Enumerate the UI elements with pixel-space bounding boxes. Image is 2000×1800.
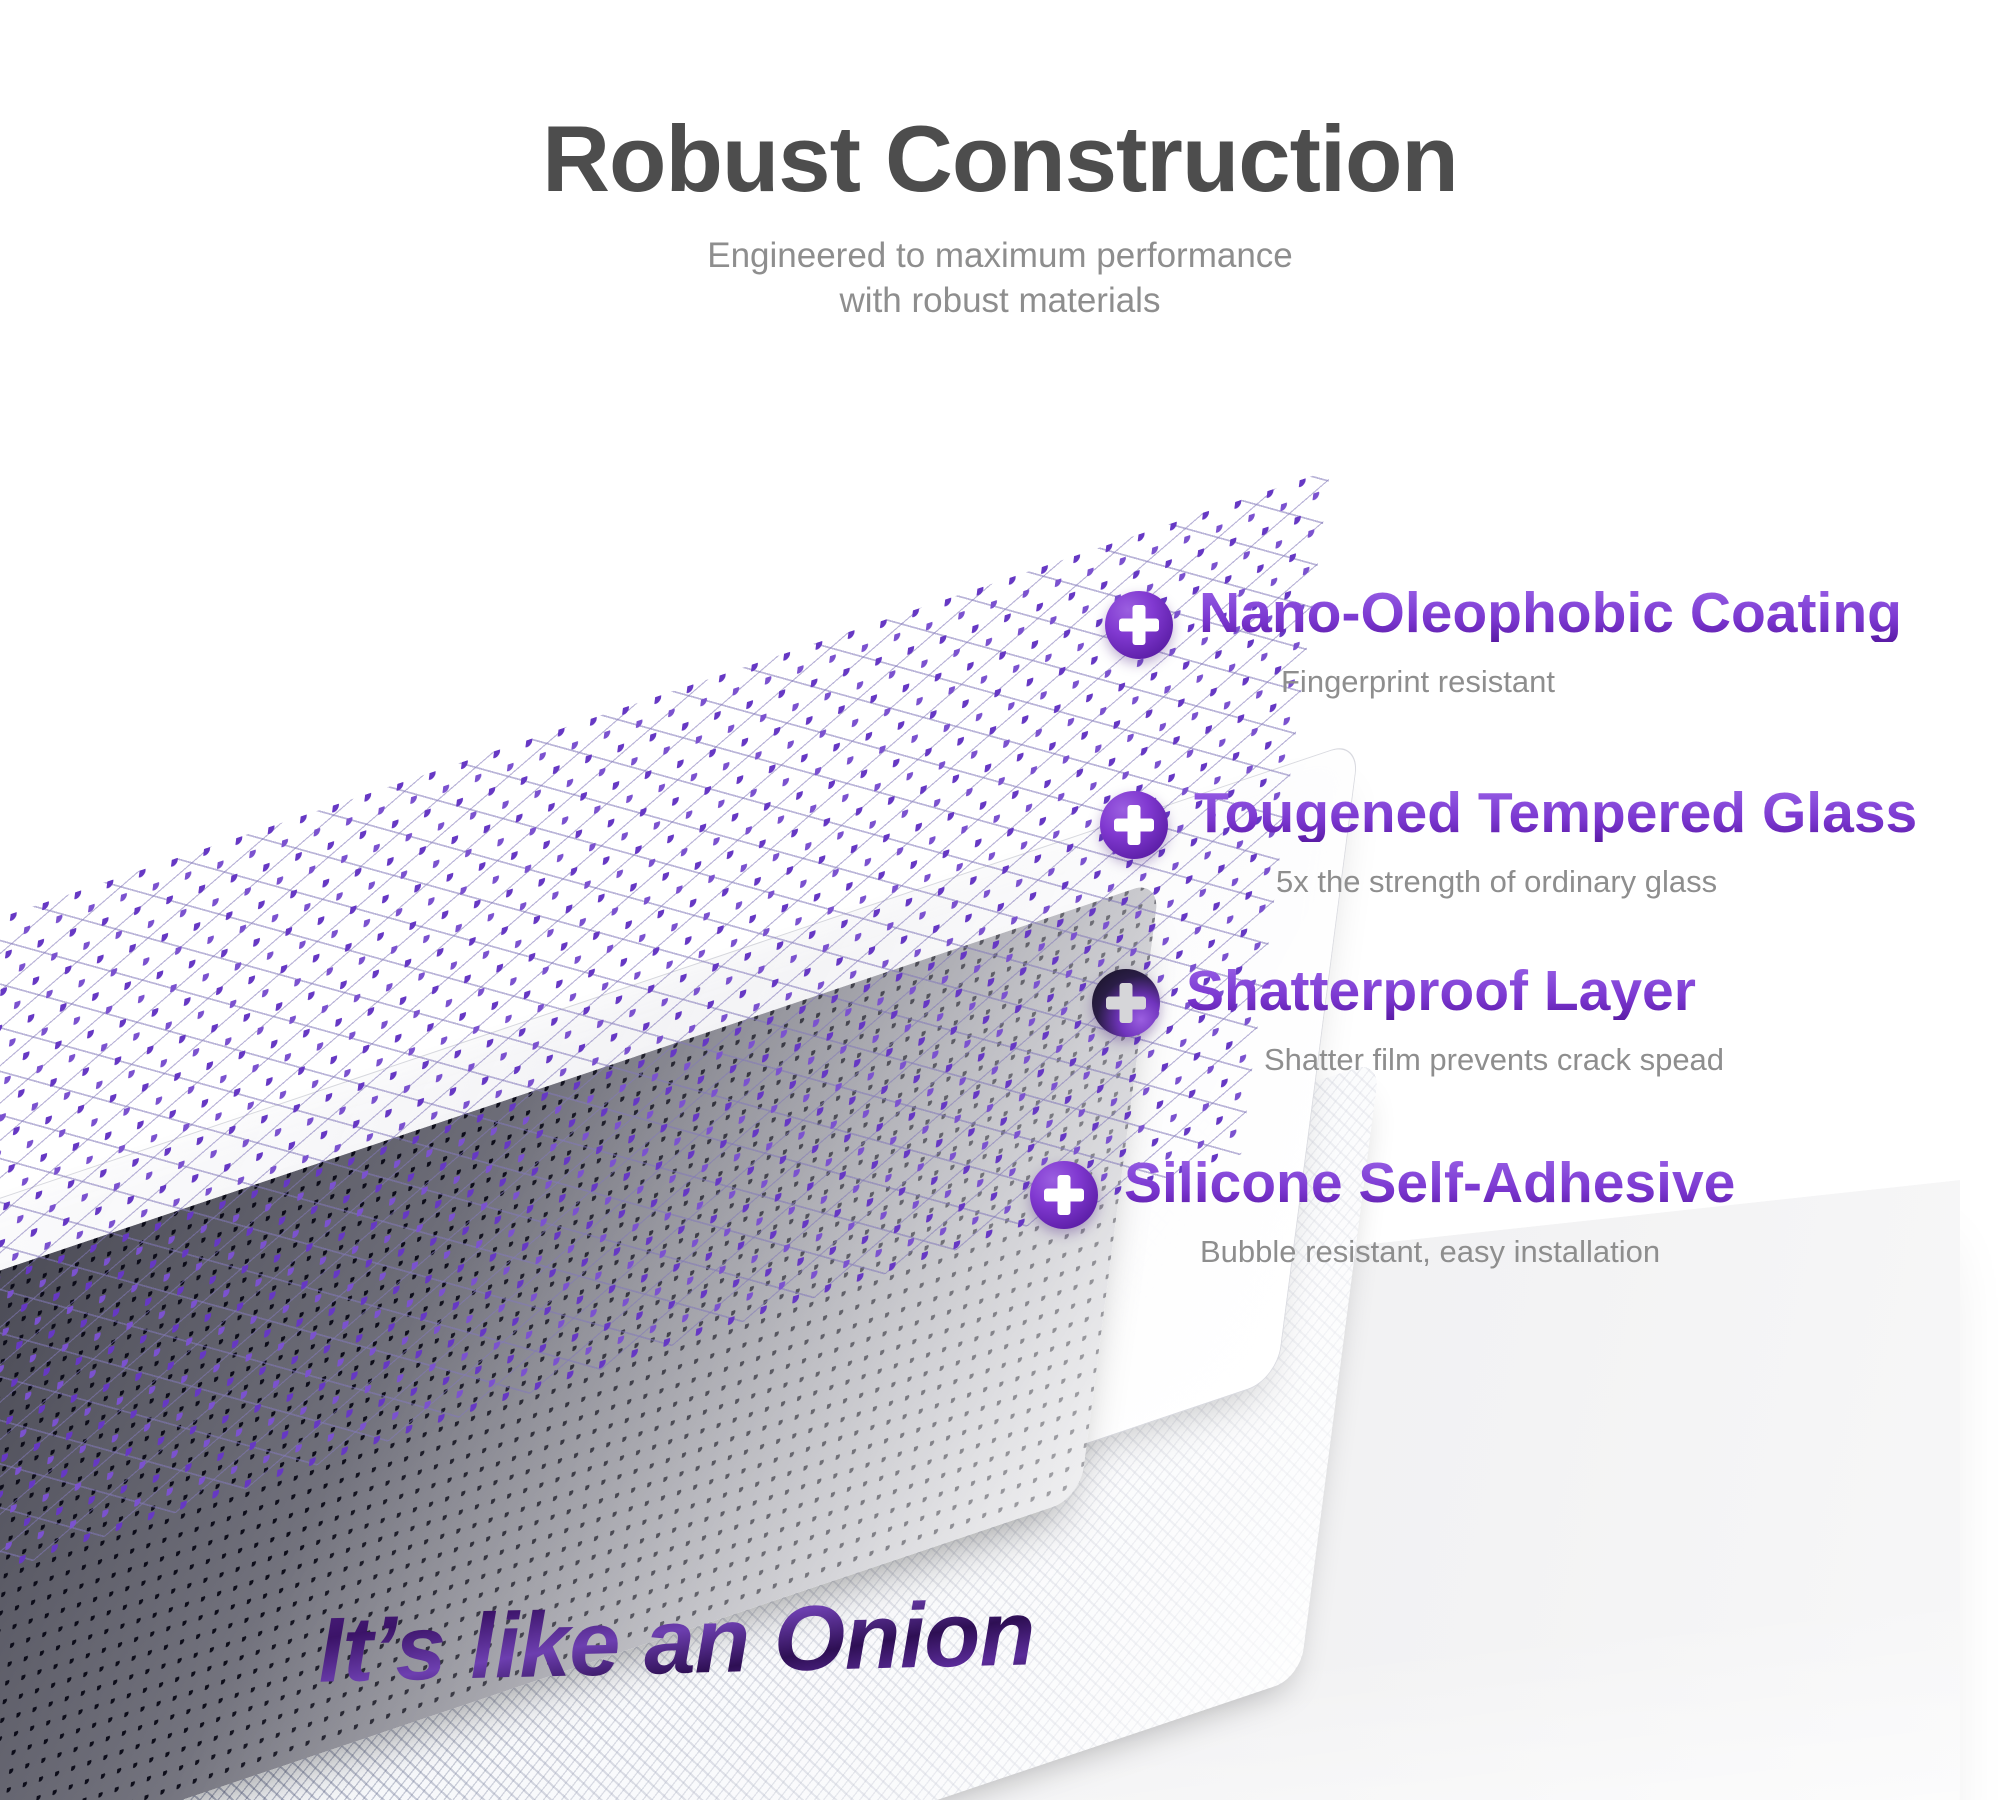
plus-circle-icon[interactable] [1030, 1161, 1098, 1229]
feature-subtitle: 5x the strength of ordinary glass [1276, 864, 1917, 900]
feature-title: Tougened Tempered Glass [1194, 785, 1917, 842]
feature-text-block: Nano-Oleophobic Coating Fingerprint resi… [1199, 585, 1902, 700]
plus-circle-icon[interactable] [1105, 591, 1173, 659]
feature-subtitle: Fingerprint resistant [1281, 664, 1902, 700]
plus-circle-icon[interactable] [1100, 791, 1168, 859]
feature-item-nano-oleophobic-coating[interactable]: Nano-Oleophobic Coating Fingerprint resi… [1105, 585, 1902, 700]
feature-title: Shatterproof Layer [1186, 963, 1724, 1020]
feature-subtitle: Bubble resistant, easy installation [1200, 1234, 1735, 1270]
feature-label-list: Nano-Oleophobic Coating Fingerprint resi… [0, 0, 2000, 1800]
feature-text-block: Shatterproof Layer Shatter film prevents… [1186, 963, 1724, 1078]
feature-title: Nano-Oleophobic Coating [1199, 585, 1902, 642]
feature-subtitle: Shatter film prevents crack spead [1264, 1042, 1724, 1078]
feature-item-silicone-self-adhesive[interactable]: Silicone Self-Adhesive Bubble resistant,… [1030, 1155, 1735, 1270]
feature-text-block: Tougened Tempered Glass 5x the strength … [1194, 785, 1917, 900]
feature-item-tougened-tempered-glass[interactable]: Tougened Tempered Glass 5x the strength … [1100, 785, 1917, 900]
feature-item-shatterproof-layer[interactable]: Shatterproof Layer Shatter film prevents… [1092, 963, 1724, 1078]
tagline: It’s like an Onion [317, 1581, 1036, 1703]
feature-text-block: Silicone Self-Adhesive Bubble resistant,… [1124, 1155, 1735, 1270]
plus-circle-icon[interactable] [1092, 969, 1160, 1037]
feature-title: Silicone Self-Adhesive [1124, 1155, 1735, 1212]
